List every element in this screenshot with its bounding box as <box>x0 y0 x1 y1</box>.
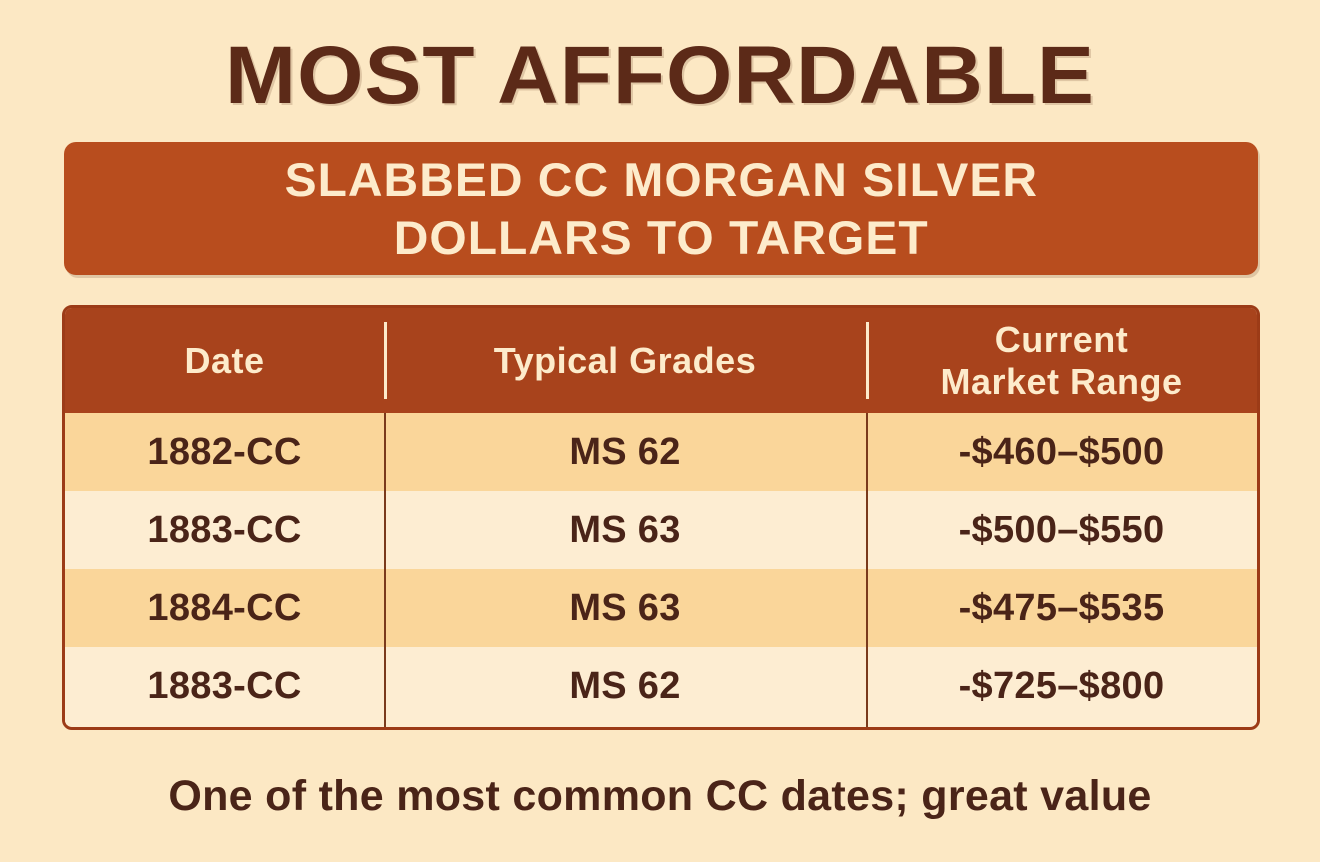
cell-range: -$460–$500 <box>866 430 1257 474</box>
cell-grade: MS 63 <box>384 586 866 630</box>
cell-date: 1884-CC <box>65 586 384 630</box>
body-divider-2 <box>866 413 868 727</box>
column-header-typical-grades: Typical Grades <box>384 340 866 382</box>
subtitle-line-1: SLABBED CC MORGAN SILVER <box>284 151 1037 209</box>
subtitle-banner: SLABBED CC MORGAN SILVER DOLLARS TO TARG… <box>64 142 1258 275</box>
cell-grade: MS 62 <box>384 664 866 708</box>
infographic-poster: MOST AFFORDABLE SLABBED CC MORGAN SILVER… <box>0 0 1320 862</box>
cell-date: 1882-CC <box>65 430 384 474</box>
cell-date: 1883-CC <box>65 664 384 708</box>
table-body: 1882-CC MS 62 -$460–$500 1883-CC MS 63 -… <box>65 413 1257 727</box>
column-header-current-market-range: Current Market Range <box>866 319 1257 403</box>
cell-grade: MS 63 <box>384 508 866 552</box>
column-header-range-line-2: Market Range <box>872 361 1251 403</box>
price-table: Date Typical Grades Current Market Range… <box>62 305 1260 730</box>
table-row: 1884-CC MS 63 -$475–$535 <box>65 569 1257 647</box>
header-divider-2 <box>866 322 869 399</box>
cell-range: -$500–$550 <box>866 508 1257 552</box>
table-row: 1883-CC MS 63 -$500–$550 <box>65 491 1257 569</box>
footer-caption: One of the most common CC dates; great v… <box>0 770 1320 822</box>
cell-range: -$475–$535 <box>866 586 1257 630</box>
header-divider-1 <box>384 322 387 399</box>
cell-date: 1883-CC <box>65 508 384 552</box>
column-header-range-line-1: Current <box>872 319 1251 361</box>
cell-grade: MS 62 <box>384 430 866 474</box>
column-header-date: Date <box>65 340 384 382</box>
table-row: 1882-CC MS 62 -$460–$500 <box>65 413 1257 491</box>
table-header-row: Date Typical Grades Current Market Range <box>65 308 1257 413</box>
cell-range: -$725–$800 <box>866 664 1257 708</box>
subtitle-line-2: DOLLARS TO TARGET <box>394 209 929 267</box>
page-title: MOST AFFORDABLE <box>0 30 1320 122</box>
table-row: 1883-CC MS 62 -$725–$800 <box>65 647 1257 725</box>
body-divider-1 <box>384 413 386 727</box>
